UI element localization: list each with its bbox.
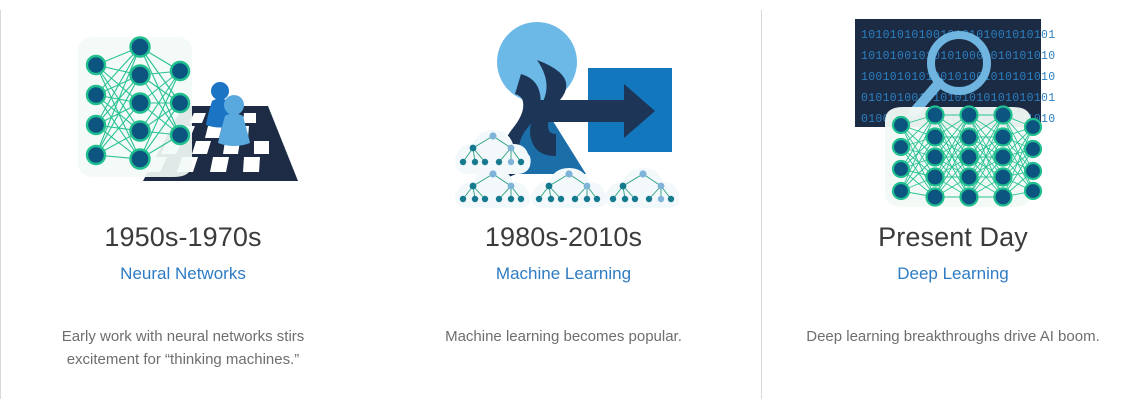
data-merge-arrow-decision-trees-illustration [366,0,761,222]
panel-description: Early work with neural networks stirs ex… [33,325,333,371]
panel-era-label: 1980s-2010s [485,222,642,252]
timeline-panel-neural-networks: 1950s-1970s Neural Networks Early work w… [0,0,366,409]
ai-timeline: 1950s-1970s Neural Networks Early work w… [0,0,1145,409]
panel-description: Machine learning becomes popular. [445,325,682,348]
timeline-panel-deep-learning: 10101010100101010100101010100101010 1010… [761,0,1145,409]
deep-neural-network-icon [885,107,1041,208]
output-square-icon [588,68,672,152]
decision-tree-cluster-4 [605,168,679,208]
panel-topic-label: Machine Learning [496,263,631,285]
panel-topic-label: Deep Learning [897,263,1009,285]
binary-magnifier-deep-network-illustration: 10101010100101010100101010100101010 1010… [761,0,1145,222]
timeline-panel-machine-learning: 1980s-2010s Machine Learning Machine lea… [366,0,761,409]
svg-text:100101010100101001010101010101: 100101010100101001010101010101001 [861,71,1056,84]
panel-topic-label: Neural Networks [120,263,246,285]
panel-description: Deep learning breakthroughs drive AI boo… [806,325,1100,348]
neural-network-chessboard-illustration [0,0,366,222]
neural-network-icon [78,37,192,177]
panel-era-label: 1950s-1970s [104,222,261,252]
svg-text:101010010101010001010101010101: 101010010101010001010101010101010 [861,50,1056,63]
panel-era-label: Present Day [878,222,1028,252]
